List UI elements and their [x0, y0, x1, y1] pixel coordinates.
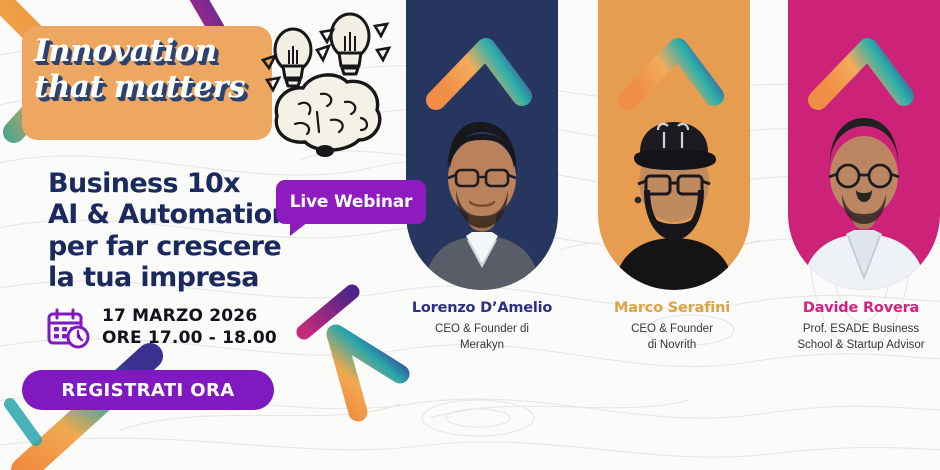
speaker-panel-2	[598, 0, 750, 290]
headline-line-4: la tua impresa	[48, 262, 348, 293]
speaker-role-3: Prof. ESADE Business School & Startup Ad…	[766, 321, 940, 354]
register-now-label: REGISTRATI ORA	[61, 380, 234, 401]
webinar-banner: Innovation that matters Business 10x AI …	[0, 0, 940, 470]
speaker-portrait-3	[788, 90, 940, 290]
brand-logo-text: Innovation that matters	[34, 36, 274, 103]
speaker-role-2: CEO & Founder di Novrith	[577, 321, 767, 354]
speaker-panel-1	[406, 0, 558, 290]
event-date-time-text: 17 MARZO 2026 ORE 17.00 - 18.00	[102, 306, 277, 350]
speaker-role-3-line-2: School & Startup Advisor	[766, 337, 940, 353]
speaker-caption-1: Lorenzo D’Amelio CEO & Founder di Meraky…	[387, 300, 577, 354]
speaker-role-2-line-2: di Novrith	[577, 337, 767, 353]
speaker-name-3: Davide Rovera	[766, 300, 940, 316]
speaker-role-1-line-2: Merakyn	[387, 337, 577, 353]
speaker-name-2: Marco Serafini	[577, 300, 767, 316]
register-now-button[interactable]: REGISTRATI ORA	[22, 370, 274, 410]
speaker-role-2-line-1: CEO & Founder	[577, 321, 767, 337]
speaker-portrait-1	[406, 90, 558, 290]
speaker-role-1: CEO & Founder di Merakyn	[387, 321, 577, 354]
speaker-caption-2: Marco Serafini CEO & Founder di Novrith	[577, 300, 767, 354]
live-webinar-badge: Live Webinar	[276, 180, 426, 224]
lightbulbs-brain-illustration	[255, 8, 395, 158]
speaker-role-3-line-1: Prof. ESADE Business	[766, 321, 940, 337]
speaker-name-1: Lorenzo D’Amelio	[387, 300, 577, 316]
speaker-role-1-line-1: CEO & Founder di	[387, 321, 577, 337]
speaker-portrait-2	[598, 90, 750, 290]
calendar-clock-icon	[46, 306, 92, 350]
event-datetime: 17 MARZO 2026 ORE 17.00 - 18.00	[46, 306, 277, 350]
event-date: 17 MARZO 2026	[102, 306, 277, 328]
logo-line-2: that matters	[34, 72, 274, 104]
live-webinar-label: Live Webinar	[290, 192, 412, 212]
speaker-panel-3	[788, 0, 940, 290]
event-time: ORE 17.00 - 18.00	[102, 328, 277, 350]
speaker-caption-3: Davide Rovera Prof. ESADE Business Schoo…	[766, 300, 940, 354]
logo-line-1: Innovation	[34, 36, 274, 68]
